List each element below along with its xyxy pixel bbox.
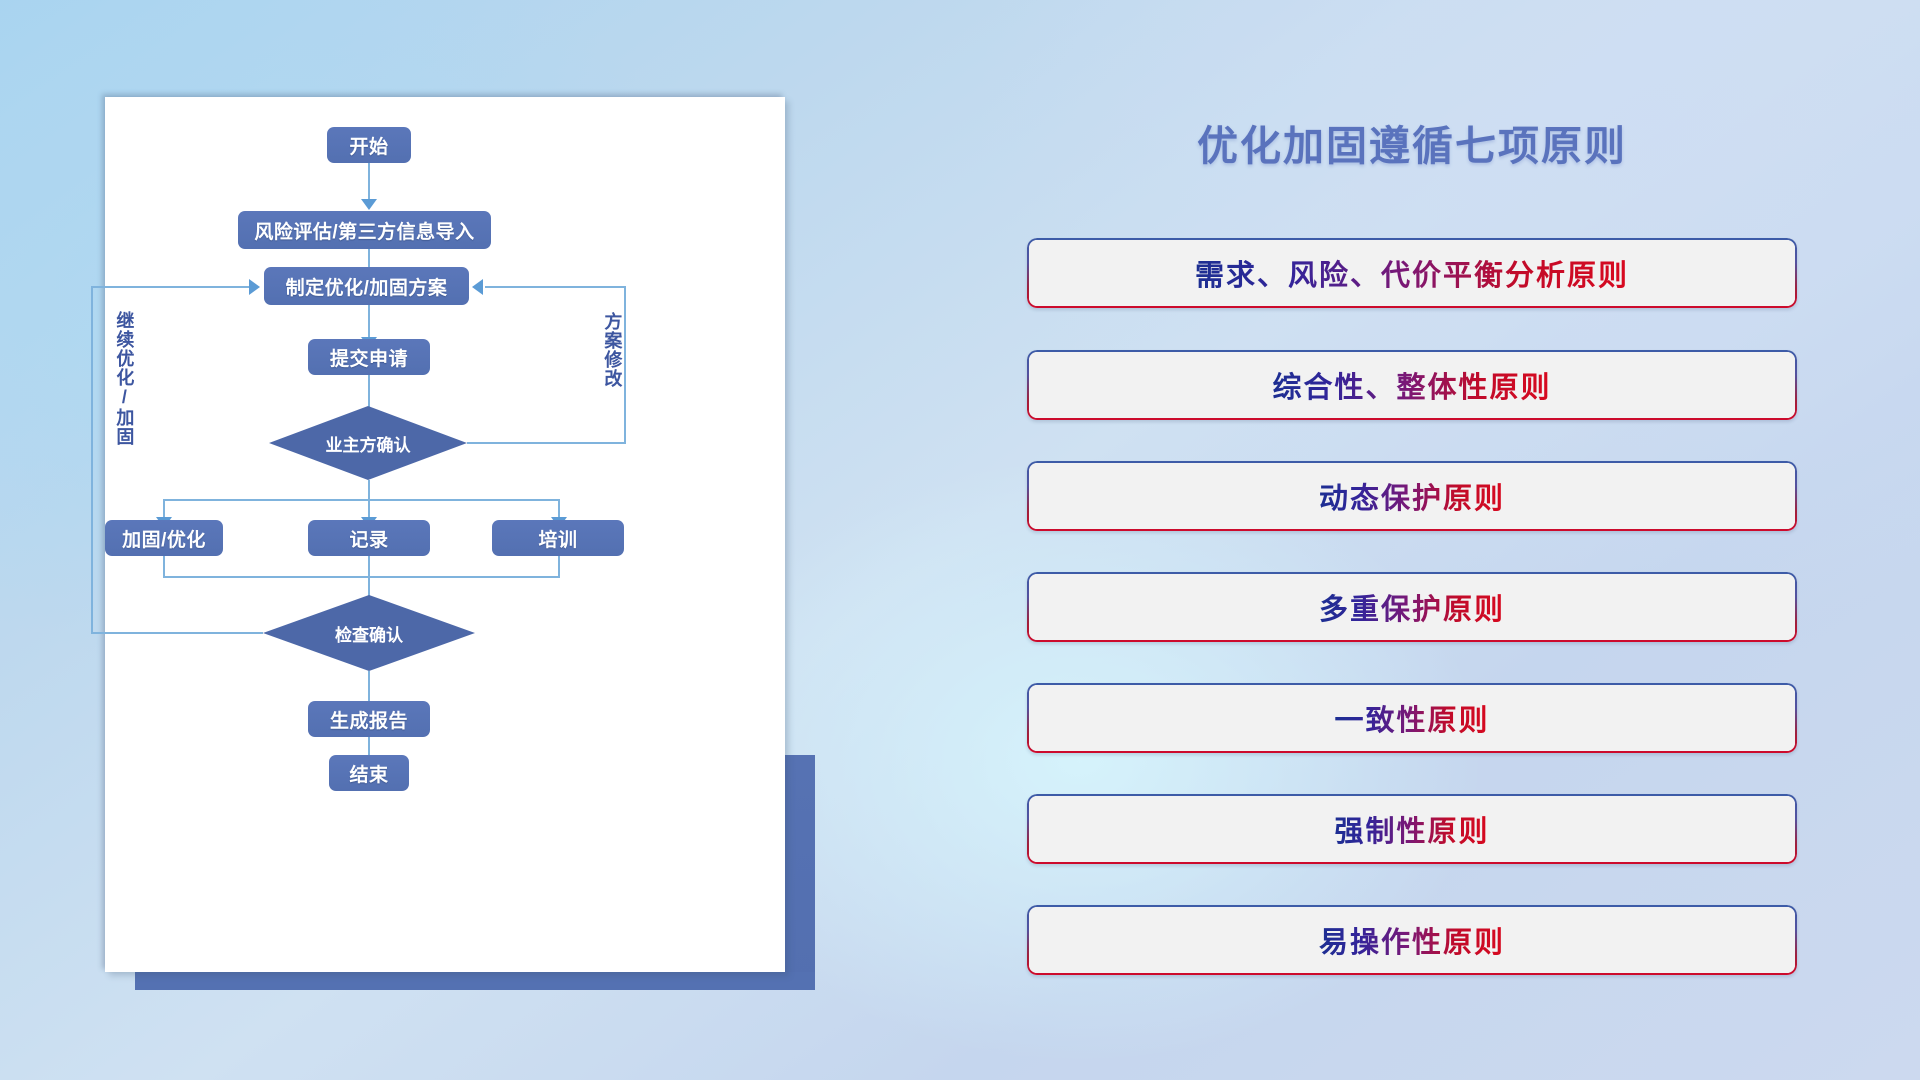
flow-node-start[interactable]: 开始 [327,127,411,163]
arrowhead-right [249,279,260,295]
principle-item-6[interactable]: 强制性原则 [1027,794,1797,864]
flow-node-label: 生成报告 [330,706,408,733]
flow-node-report[interactable]: 生成报告 [308,701,430,737]
flow-node-label: 加固/优化 [122,525,206,552]
flow-node-label: 业主方确认 [326,431,411,456]
flow-node-label: 结束 [349,760,388,787]
flow-node-end[interactable]: 结束 [329,755,409,791]
arrowhead-down [361,199,377,210]
connector-train-down [558,556,560,578]
principle-label: 易操作性原则 [1319,919,1505,961]
flow-node-check-confirm[interactable]: 检查确认 [263,595,475,671]
principle-label: 多重保护原则 [1319,586,1505,628]
connector-fanout-bar [163,499,560,501]
principle-item-5[interactable]: 一致性原则 [1027,683,1797,753]
principle-inner: 一致性原则 [1029,685,1795,751]
page-title: 优化加固遵循七项原则 [1027,112,1797,172]
principle-item-4[interactable]: 多重保护原则 [1027,572,1797,642]
flow-node-reinforce[interactable]: 加固/优化 [105,520,223,556]
flowchart-card: 开始 风险评估/第三方信息导入 制定优化/加固方案 提交申请 业主方确认 [105,97,785,972]
edge-label-plan-revision: 方案修改 [603,312,621,388]
principle-item-3[interactable]: 动态保护原则 [1027,461,1797,531]
flow-node-label: 检查确认 [335,621,403,646]
flow-node-plan[interactable]: 制定优化/加固方案 [264,267,469,305]
flow-node-owner-confirm[interactable]: 业主方确认 [269,406,467,480]
slide-canvas: 开始 风险评估/第三方信息导入 制定优化/加固方案 提交申请 业主方确认 [0,0,1920,1080]
connector-right-loop-up [624,287,626,444]
flow-node-record[interactable]: 记录 [308,520,430,556]
flow-node-label: 制定优化/加固方案 [286,273,448,300]
connector-left-loop-up [91,287,93,634]
flow-node-label: 开始 [349,132,388,159]
flow-node-label: 记录 [349,525,388,552]
principle-label: 综合性、整体性原则 [1272,364,1551,406]
connector-check-left [91,632,263,634]
principle-inner: 需求、风险、代价平衡分析原则 [1029,240,1795,306]
flow-node-label: 风险评估/第三方信息导入 [254,217,474,244]
principle-inner: 多重保护原则 [1029,574,1795,640]
principle-inner: 动态保护原则 [1029,463,1795,529]
principle-label: 一致性原则 [1334,697,1489,739]
arrowhead-left [472,279,483,295]
principle-item-7[interactable]: 易操作性原则 [1027,905,1797,975]
principle-label: 动态保护原则 [1319,475,1505,517]
connector-right-loop-to-plan [485,286,626,288]
connector-reinforce-down [163,556,165,578]
principle-label: 需求、风险、代价平衡分析原则 [1195,252,1629,294]
accent-block-horizontal [135,972,815,990]
flow-node-risk-assessment[interactable]: 风险评估/第三方信息导入 [238,211,491,249]
principle-label: 强制性原则 [1334,808,1489,850]
connector-owner-right [467,442,626,444]
flow-node-label: 培训 [538,525,577,552]
flow-node-label: 提交申请 [330,344,408,371]
connector-left-loop-to-plan [91,286,251,288]
principle-item-2[interactable]: 综合性、整体性原则 [1027,350,1797,420]
edge-label-continue-optimize: 继续优化/加固 [115,311,133,446]
connector-fanin-bar [163,576,560,578]
principle-inner: 综合性、整体性原则 [1029,352,1795,418]
principle-inner: 易操作性原则 [1029,907,1795,973]
principle-item-1[interactable]: 需求、风险、代价平衡分析原则 [1027,238,1797,308]
principle-inner: 强制性原则 [1029,796,1795,862]
flow-node-submit[interactable]: 提交申请 [308,339,430,375]
flow-node-train[interactable]: 培训 [492,520,624,556]
